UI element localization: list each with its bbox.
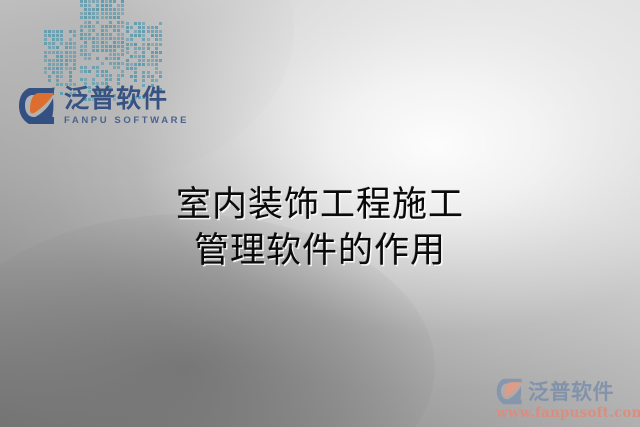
- watermark-url: www.fanpusoft.com: [496, 405, 638, 421]
- skyline-pixel: [96, 37, 99, 40]
- skyline-pixel: [113, 41, 116, 44]
- skyline-pixel: [109, 45, 112, 48]
- skyline-pixel: [117, 12, 120, 15]
- skyline-pixel: [101, 49, 104, 52]
- skyline-pixel: [48, 42, 51, 45]
- skyline-pixel: [48, 79, 51, 82]
- skyline-pixel: [56, 79, 59, 82]
- skyline-pixel: [60, 42, 63, 45]
- skyline-pixel: [73, 59, 76, 62]
- skyline-pixel: [113, 49, 116, 52]
- skyline-pixel: [69, 38, 72, 41]
- skyline-pixel: [69, 59, 72, 62]
- skyline-pixel: [117, 37, 120, 40]
- skyline-pixel: [126, 67, 129, 70]
- skyline-pixel: [80, 16, 83, 19]
- skyline-pixel: [117, 57, 120, 60]
- skyline-pixel: [126, 30, 129, 33]
- skyline-pixel: [155, 71, 158, 74]
- skyline-pixel: [151, 63, 154, 66]
- skyline-pixel: [80, 78, 83, 81]
- skyline-pixel: [84, 16, 87, 19]
- skyline-pixel: [159, 75, 162, 78]
- skyline-pixel: [109, 49, 112, 52]
- slide-title-line-1: 室内装饰工程施工: [0, 182, 640, 228]
- skyline-pixel: [60, 67, 63, 70]
- skyline-pixel: [138, 59, 141, 62]
- skyline-pixel: [130, 38, 133, 41]
- skyline-pixel: [117, 33, 120, 36]
- skyline-pixel: [155, 43, 158, 46]
- skyline-pixel: [105, 70, 108, 73]
- skyline-pixel: [56, 46, 59, 49]
- skyline-pixel: [69, 46, 72, 49]
- skyline-pixel: [69, 67, 72, 70]
- skyline-pixel: [109, 62, 112, 65]
- skyline-pixel: [48, 75, 51, 78]
- skyline-pixel: [84, 12, 87, 15]
- skyline-pixel: [73, 46, 76, 49]
- skyline-pixel: [84, 78, 87, 81]
- skyline-pixel: [151, 55, 154, 58]
- skyline-pixel: [52, 63, 55, 66]
- skyline-pixel: [151, 26, 154, 29]
- skyline-pixel: [105, 37, 108, 40]
- skyline-pixel: [88, 0, 91, 3]
- skyline-pixel: [117, 45, 120, 48]
- skyline-pixel: [92, 78, 95, 81]
- skyline-pixel: [113, 53, 116, 56]
- skyline-pixel: [121, 37, 124, 40]
- skyline-pixel: [121, 12, 124, 15]
- right-tower: [126, 22, 154, 86]
- skyline-pixel: [134, 55, 137, 58]
- skyline-pixel: [48, 30, 51, 33]
- skyline-pixel: [109, 0, 112, 3]
- skyline-pixel: [52, 51, 55, 54]
- skyline-pixel: [80, 49, 83, 52]
- skyline-pixel: [101, 12, 104, 15]
- skyline-pixel: [80, 70, 83, 73]
- skyline-pixel: [92, 49, 95, 52]
- skyline-pixel: [96, 8, 99, 11]
- skyline-pixel: [92, 41, 95, 44]
- skyline-pixel: [159, 34, 162, 37]
- skyline-pixel: [126, 38, 129, 41]
- skyline-pixel: [80, 33, 83, 36]
- skyline-pixel: [48, 63, 51, 66]
- skyline-pixel: [84, 0, 87, 3]
- skyline-pixel: [121, 21, 124, 24]
- skyline-pixel: [109, 21, 112, 24]
- skyline-pixel: [126, 51, 129, 54]
- skyline-pixel: [101, 33, 104, 36]
- skyline-pixel: [80, 0, 83, 3]
- pixel-skyline-graphic: [44, 0, 156, 86]
- skyline-pixel: [130, 55, 133, 58]
- skyline-pixel: [44, 51, 47, 54]
- skyline-pixel: [159, 22, 162, 25]
- skyline-pixel: [121, 41, 124, 44]
- skyline-pixel: [121, 74, 124, 77]
- skyline-pixel: [84, 70, 87, 73]
- skyline-pixel: [92, 25, 95, 28]
- skyline-pixel: [138, 34, 141, 37]
- skyline-pixel: [138, 47, 141, 50]
- skyline-pixel: [117, 29, 120, 32]
- skyline-pixel: [92, 66, 95, 69]
- skyline-pixel: [48, 34, 51, 37]
- skyline-pixel: [96, 4, 99, 7]
- skyline-pixel: [96, 45, 99, 48]
- skyline-pixel: [130, 67, 133, 70]
- skyline-pixel: [151, 30, 154, 33]
- skyline-pixel: [151, 75, 154, 78]
- skyline-pixel: [96, 0, 99, 3]
- skyline-pixel: [155, 63, 158, 66]
- skyline-pixel: [105, 45, 108, 48]
- skyline-pixel: [155, 30, 158, 33]
- skyline-pixel: [84, 57, 87, 60]
- skyline-pixel: [88, 16, 91, 19]
- skyline-pixel: [134, 75, 137, 78]
- skyline-pixel: [117, 4, 120, 7]
- skyline-pixel: [60, 71, 63, 74]
- skyline-pixel: [44, 67, 47, 70]
- skyline-pixel: [151, 43, 154, 46]
- skyline-pixel: [84, 41, 87, 44]
- watermark-logo: 泛普软件 www.fanpusoft.com: [496, 376, 638, 421]
- skyline-pixel: [147, 38, 150, 41]
- skyline-pixel: [130, 34, 133, 37]
- skyline-pixel: [134, 51, 137, 54]
- skyline-pixel: [69, 75, 72, 78]
- skyline-pixel: [73, 63, 76, 66]
- skyline-pixel: [121, 0, 124, 3]
- skyline-pixel: [105, 74, 108, 77]
- skyline-pixel: [56, 75, 59, 78]
- skyline-pixel: [52, 30, 55, 33]
- skyline-pixel: [56, 34, 59, 37]
- presentation-slide: 泛普软件 FANPU SOFTWARE 室内装饰工程施工 管理软件的作用 泛普软…: [0, 0, 640, 427]
- skyline-pixel: [105, 49, 108, 52]
- skyline-pixel: [117, 78, 120, 81]
- skyline-pixel: [105, 78, 108, 81]
- skyline-pixel: [142, 63, 145, 66]
- skyline-pixel: [109, 25, 112, 28]
- skyline-pixel: [52, 46, 55, 49]
- skyline-pixel: [155, 79, 158, 82]
- skyline-pixel: [142, 71, 145, 74]
- skyline-pixel: [65, 51, 68, 54]
- skyline-pixel: [113, 62, 116, 65]
- skyline-pixel: [105, 25, 108, 28]
- skyline-pixel: [130, 43, 133, 46]
- skyline-pixel: [84, 45, 87, 48]
- skyline-pixel: [60, 59, 63, 62]
- skyline-pixel: [92, 0, 95, 3]
- skyline-pixel: [96, 12, 99, 15]
- skyline-pixel: [84, 37, 87, 40]
- skyline-pixel: [142, 47, 145, 50]
- skyline-pixel: [121, 4, 124, 7]
- skyline-pixel: [52, 71, 55, 74]
- skyline-pixel: [105, 8, 108, 11]
- skyline-pixel: [147, 59, 150, 62]
- skyline-pixel: [134, 22, 137, 25]
- skyline-pixel: [96, 41, 99, 44]
- skyline-pixel: [52, 34, 55, 37]
- skyline-pixel: [113, 16, 116, 19]
- skyline-pixel: [80, 37, 83, 40]
- skyline-pixel: [121, 53, 124, 56]
- skyline-pixel: [65, 59, 68, 62]
- skyline-pixel: [159, 30, 162, 33]
- skyline-pixel: [126, 43, 129, 46]
- skyline-pixel: [88, 12, 91, 15]
- skyline-pixel: [101, 62, 104, 65]
- skyline-pixel: [142, 38, 145, 41]
- skyline-pixel: [80, 25, 83, 28]
- skyline-pixel: [92, 8, 95, 11]
- skyline-pixel: [142, 59, 145, 62]
- skyline-pixel: [92, 29, 95, 32]
- skyline-pixel: [147, 26, 150, 29]
- skyline-pixel: [101, 4, 104, 7]
- skyline-pixel: [142, 26, 145, 29]
- skyline-pixel: [159, 59, 162, 62]
- skyline-pixel: [48, 51, 51, 54]
- skyline-pixel: [101, 45, 104, 48]
- skyline-pixel: [147, 43, 150, 46]
- skyline-pixel: [69, 51, 72, 54]
- skyline-pixel: [109, 78, 112, 81]
- skyline-pixel: [56, 59, 59, 62]
- skyline-pixel: [44, 42, 47, 45]
- skyline-pixel: [117, 62, 120, 65]
- skyline-pixel: [44, 71, 47, 74]
- skyline-pixel: [96, 49, 99, 52]
- skyline-pixel: [96, 70, 99, 73]
- skyline-pixel: [109, 53, 112, 56]
- skyline-pixel: [88, 53, 91, 56]
- skyline-pixel: [84, 25, 87, 28]
- skyline-pixel: [109, 16, 112, 19]
- skyline-pixel: [84, 4, 87, 7]
- skyline-pixel: [101, 70, 104, 73]
- skyline-pixel: [159, 38, 162, 41]
- skyline-pixel: [80, 45, 83, 48]
- skyline-pixel: [88, 70, 91, 73]
- skyline-pixel: [117, 74, 120, 77]
- brand-name-en: FANPU SOFTWARE: [64, 116, 189, 126]
- skyline-pixel: [65, 67, 68, 70]
- skyline-pixel: [96, 33, 99, 36]
- skyline-pixel: [126, 47, 129, 50]
- skyline-pixel: [138, 63, 141, 66]
- skyline-pixel: [73, 42, 76, 45]
- skyline-pixel: [109, 12, 112, 15]
- skyline-pixel: [84, 66, 87, 69]
- skyline-pixel: [88, 29, 91, 32]
- skyline-pixel: [96, 16, 99, 19]
- skyline-pixel: [73, 67, 76, 70]
- skyline-pixel: [105, 29, 108, 32]
- skyline-pixel: [56, 67, 59, 70]
- skyline-pixel: [113, 25, 116, 28]
- skyline-pixel: [101, 29, 104, 32]
- skyline-pixel: [105, 4, 108, 7]
- skyline-pixel: [52, 67, 55, 70]
- skyline-pixel: [48, 46, 51, 49]
- skyline-pixel: [151, 79, 154, 82]
- skyline-pixel: [88, 57, 91, 60]
- skyline-pixel: [52, 42, 55, 45]
- skyline-pixel: [73, 55, 76, 58]
- skyline-pixel: [155, 51, 158, 54]
- skyline-pixel: [151, 59, 154, 62]
- fanpu-logo-icon: [18, 86, 56, 126]
- skyline-pixel: [134, 79, 137, 82]
- skyline-pixel: [80, 66, 83, 69]
- skyline-pixel: [134, 63, 137, 66]
- skyline-pixel: [92, 12, 95, 15]
- skyline-pixel: [60, 38, 63, 41]
- skyline-pixel: [52, 38, 55, 41]
- skyline-pixel: [105, 0, 108, 3]
- skyline-pixel: [109, 4, 112, 7]
- skyline-pixel: [142, 51, 145, 54]
- skyline-pixel: [134, 67, 137, 70]
- skyline-pixel: [130, 26, 133, 29]
- skyline-pixel: [159, 71, 162, 74]
- skyline-pixel: [142, 43, 145, 46]
- left-tower: [44, 30, 70, 86]
- skyline-pixel: [52, 59, 55, 62]
- skyline-pixel: [134, 43, 137, 46]
- skyline-pixel: [126, 63, 129, 66]
- skyline-pixel: [96, 74, 99, 77]
- skyline-pixel: [101, 41, 104, 44]
- skyline-pixel: [73, 51, 76, 54]
- brand-name-cn: 泛普软件: [64, 86, 189, 111]
- skyline-pixel: [126, 22, 129, 25]
- skyline-pixel: [121, 25, 124, 28]
- skyline-pixel: [96, 21, 99, 24]
- skyline-pixel: [101, 74, 104, 77]
- skyline-pixel: [65, 42, 68, 45]
- skyline-pixel: [121, 62, 124, 65]
- skyline-pixel: [113, 8, 116, 11]
- skyline-pixel: [60, 55, 63, 58]
- slide-title: 室内装饰工程施工 管理软件的作用: [0, 182, 640, 274]
- skyline-pixel: [88, 25, 91, 28]
- center-tower: [80, 0, 116, 86]
- skyline-pixel: [126, 26, 129, 29]
- skyline-pixel: [109, 74, 112, 77]
- skyline-pixel: [60, 34, 63, 37]
- skyline-pixel: [134, 47, 137, 50]
- skyline-pixel: [113, 12, 116, 15]
- skyline-pixel: [159, 51, 162, 54]
- skyline-pixel: [69, 30, 72, 33]
- skyline-pixel: [117, 41, 120, 44]
- skyline-pixel: [88, 37, 91, 40]
- skyline-pixel: [105, 33, 108, 36]
- skyline-pixel: [151, 51, 154, 54]
- skyline-pixel: [113, 0, 116, 3]
- skyline-pixel: [60, 51, 63, 54]
- skyline-pixel: [117, 16, 120, 19]
- skyline-pixel: [159, 43, 162, 46]
- skyline-pixel: [60, 30, 63, 33]
- skyline-pixel: [84, 53, 87, 56]
- skyline-pixel: [121, 70, 124, 73]
- skyline-pixel: [92, 45, 95, 48]
- skyline-pixel: [60, 63, 63, 66]
- watermark-fanpu-logo-icon: [496, 377, 523, 406]
- skyline-pixel: [88, 8, 91, 11]
- skyline-pixel: [80, 12, 83, 15]
- skyline-pixel: [44, 59, 47, 62]
- skyline-pixel: [101, 37, 104, 40]
- skyline-pixel: [113, 66, 116, 69]
- skyline-pixel: [142, 79, 145, 82]
- skyline-pixel: [105, 12, 108, 15]
- skyline-pixel: [155, 47, 158, 50]
- skyline-pixel: [147, 30, 150, 33]
- skyline-pixel: [73, 30, 76, 33]
- skyline-pixel: [117, 8, 120, 11]
- skyline-pixel: [155, 59, 158, 62]
- skyline-pixel: [56, 63, 59, 66]
- skyline-pixel: [121, 33, 124, 36]
- skyline-pixel: [101, 0, 104, 3]
- skyline-pixel: [138, 55, 141, 58]
- skyline-pixel: [151, 34, 154, 37]
- skyline-pixel: [109, 57, 112, 60]
- skyline-pixel: [117, 66, 120, 69]
- skyline-pixel: [142, 34, 145, 37]
- skyline-pixel: [130, 75, 133, 78]
- skyline-pixel: [80, 53, 83, 56]
- skyline-pixel: [92, 37, 95, 40]
- brand-logo: 泛普软件 FANPU SOFTWARE: [18, 86, 189, 126]
- skyline-pixel: [56, 71, 59, 74]
- watermark-row: 泛普软件: [496, 376, 638, 406]
- skyline-pixel: [105, 57, 108, 60]
- skyline-pixel: [105, 16, 108, 19]
- skyline-pixel: [84, 21, 87, 24]
- skyline-pixel: [113, 45, 116, 48]
- skyline-pixel: [80, 4, 83, 7]
- skyline-pixel: [155, 67, 158, 70]
- skyline-pixel: [80, 29, 83, 32]
- skyline-pixel: [155, 55, 158, 58]
- skyline-pixel: [44, 55, 47, 58]
- skyline-pixel: [147, 71, 150, 74]
- skyline-pixel: [69, 71, 72, 74]
- skyline-pixel: [44, 30, 47, 33]
- skyline-pixel: [113, 37, 116, 40]
- watermark-name-cn: 泛普软件: [528, 376, 614, 406]
- brand-wordmark: 泛普软件 FANPU SOFTWARE: [64, 86, 189, 126]
- skyline-pixel: [121, 8, 124, 11]
- skyline-pixel: [121, 49, 124, 52]
- skyline-pixel: [147, 47, 150, 50]
- skyline-pixel: [134, 30, 137, 33]
- skyline-pixel: [142, 22, 145, 25]
